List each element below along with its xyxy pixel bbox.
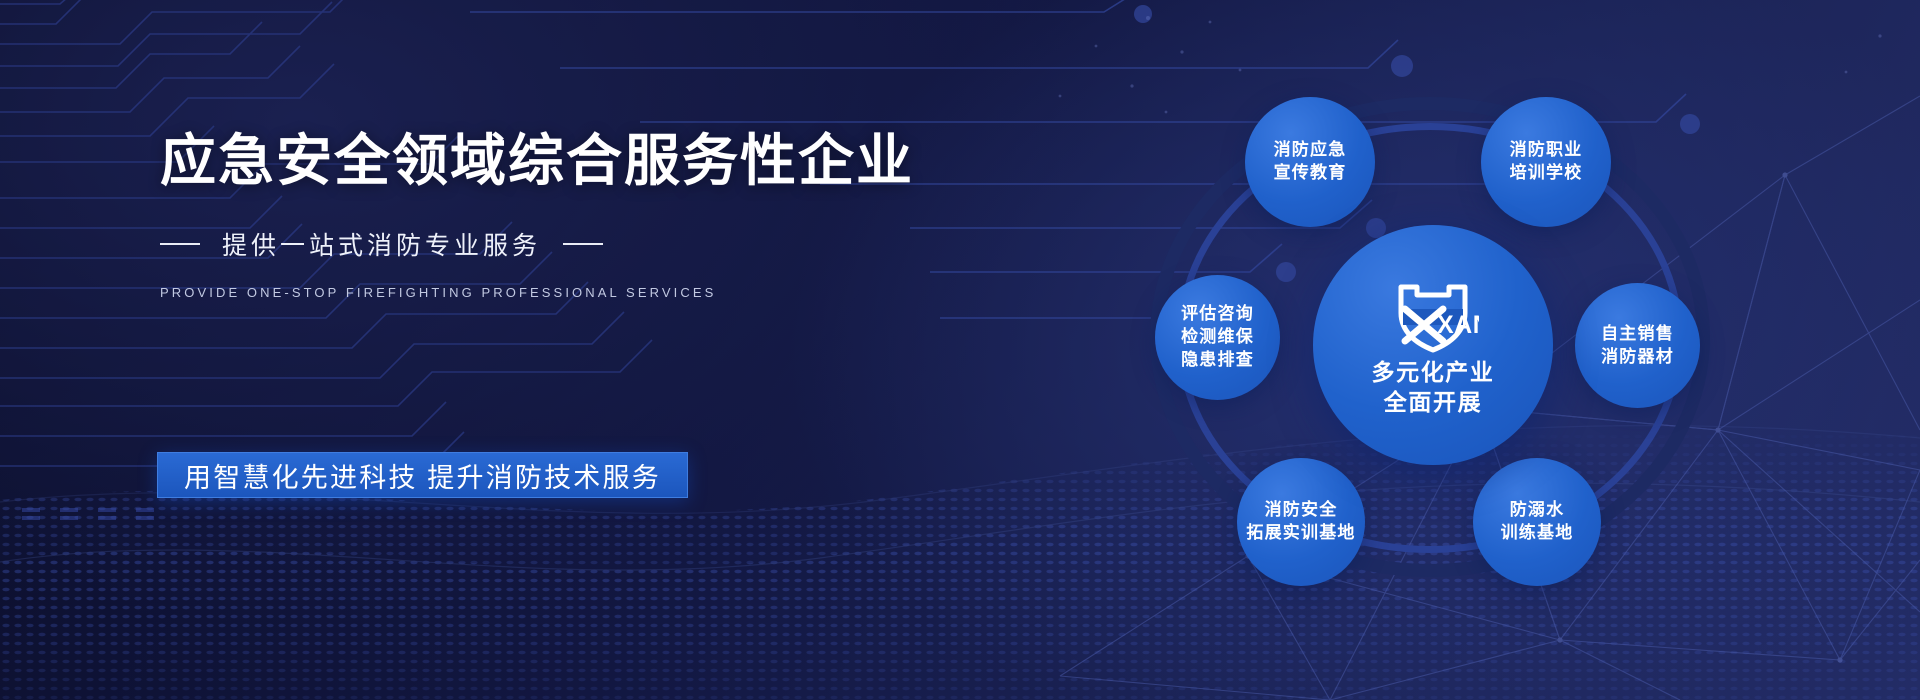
service-node-assessment-inspection[interactable]: 评估咨询 检测维保 隐患排查 <box>1155 275 1280 400</box>
service-node-line-1: 消防安全 <box>1265 499 1338 522</box>
hero-subline-text: 提供一站式消防专业服务 <box>222 226 541 262</box>
hub-line-1: 多元化产业 <box>1372 357 1495 387</box>
service-node-line-2: 消防器材 <box>1601 346 1674 369</box>
diagram-center-hub[interactable]: XAN 多元化产业 全面开展 <box>1313 225 1553 465</box>
hero-subline: 提供一站式消防专业服务 <box>160 226 920 262</box>
cta-button[interactable]: 用智慧化先进科技 提升消防技术服务 <box>157 452 688 498</box>
service-node-line-2: 宣传教育 <box>1274 162 1347 185</box>
hero-banner: 应急安全领域综合服务性企业 提供一站式消防专业服务 PROVIDE ONE-ST… <box>0 0 1920 700</box>
hero-copy: 应急安全领域综合服务性企业 提供一站式消防专业服务 PROVIDE ONE-ST… <box>160 128 920 300</box>
service-node-line-2: 拓展实训基地 <box>1246 522 1355 545</box>
service-node-drowning-prevention-base[interactable]: 防溺水 训练基地 <box>1473 458 1601 586</box>
service-node-safety-training-base[interactable]: 消防安全 拓展实训基地 <box>1237 458 1365 586</box>
shield-logo-text: XAN <box>1437 311 1479 339</box>
service-node-line-1: 消防职业 <box>1510 139 1583 162</box>
hub-line-2: 全面开展 <box>1384 387 1482 417</box>
service-node-line-2: 培训学校 <box>1510 162 1583 185</box>
service-node-line-2: 检测维保 <box>1181 326 1254 349</box>
cta-button-label: 用智慧化先进科技 提升消防技术服务 <box>184 456 661 495</box>
service-node-vocational-training-school[interactable]: 消防职业 培训学校 <box>1481 97 1611 227</box>
hero-eyebrow-english: PROVIDE ONE-STOP FIREFIGHTING PROFESSION… <box>160 285 920 300</box>
shield-logo-icon: XAN <box>1387 273 1479 355</box>
service-node-line-3: 隐患排查 <box>1181 349 1254 372</box>
page-title: 应急安全领域综合服务性企业 <box>160 128 920 194</box>
divider-rule-right <box>563 243 603 245</box>
service-node-line-2: 训练基地 <box>1501 522 1574 545</box>
divider-rule-left <box>160 243 200 245</box>
service-node-line-1: 评估咨询 <box>1181 303 1254 326</box>
service-node-fire-emergency-publicity[interactable]: 消防应急 宣传教育 <box>1245 97 1375 227</box>
service-node-line-1: 防溺水 <box>1510 499 1565 522</box>
services-hub-diagram: 消防应急 宣传教育 消防职业 培训学校 评估咨询 检测维保 隐患排查 自主销售 … <box>1125 75 1735 605</box>
service-node-line-1: 自主销售 <box>1601 323 1674 346</box>
service-node-line-1: 消防应急 <box>1274 139 1347 162</box>
service-node-equipment-sales[interactable]: 自主销售 消防器材 <box>1575 283 1700 408</box>
